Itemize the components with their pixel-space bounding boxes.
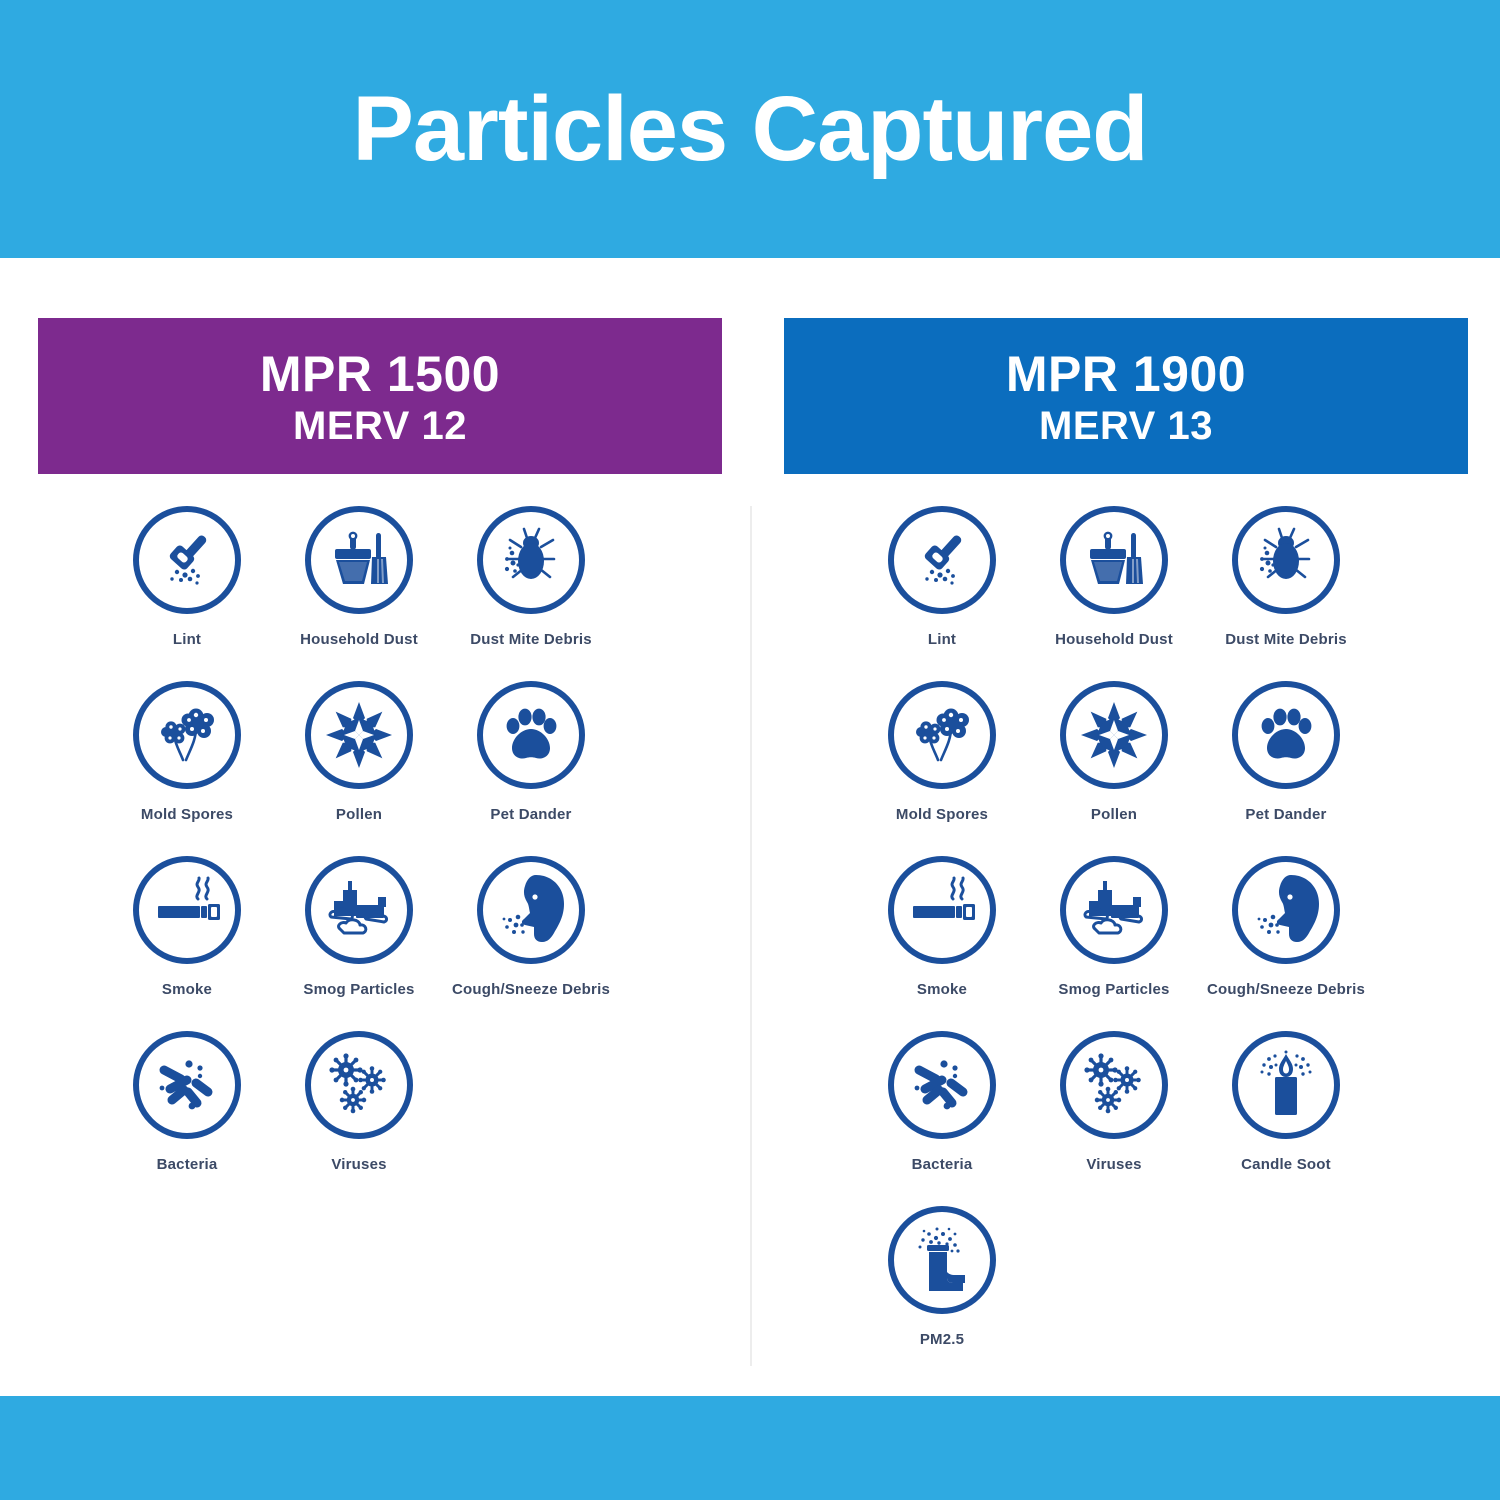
particle-label: Household Dust — [300, 631, 418, 648]
city-smog-icon — [305, 856, 413, 964]
particle-label: Pet Dander — [1245, 806, 1326, 823]
column-merv-label: MERV 12 — [293, 404, 467, 448]
particle-item: Cough/Sneeze Debris — [445, 856, 617, 1031]
paw-print-icon — [477, 681, 585, 789]
particle-item: Household Dust — [1028, 506, 1200, 681]
infographic-page: Particles Captured MPR 1500 MERV 12 MPR … — [0, 0, 1500, 1500]
column-divider — [750, 506, 752, 1366]
paw-print-icon — [1232, 681, 1340, 789]
particle-item: Pet Dander — [445, 681, 617, 856]
particle-label: Bacteria — [912, 1156, 973, 1173]
particle-item: Household Dust — [273, 506, 445, 681]
sneezing-face-icon — [477, 856, 585, 964]
particle-item: Viruses — [1028, 1031, 1200, 1206]
cigarette-smoke-icon — [888, 856, 996, 964]
particle-label: Bacteria — [157, 1156, 218, 1173]
column-rating-label: MPR 1500 — [260, 349, 500, 400]
pollen-starburst-icon — [1060, 681, 1168, 789]
column-merv-label: MERV 13 — [1039, 404, 1213, 448]
pollen-starburst-icon — [305, 681, 413, 789]
particle-label: Smoke — [917, 981, 967, 998]
particle-label: PM2.5 — [920, 1331, 964, 1348]
particle-item: Pollen — [1028, 681, 1200, 856]
particle-label: Cough/Sneeze Debris — [1207, 981, 1365, 998]
particle-label: Lint — [173, 631, 201, 648]
comparison-body: MPR 1500 MERV 12 MPR 1900 MERV 13 Lint — [0, 258, 1500, 1396]
particle-grid-mpr-1500: Lint Household Dust — [101, 506, 617, 1206]
particle-item: Smoke — [856, 856, 1028, 1031]
lint-roller-icon — [888, 506, 996, 614]
city-smog-icon — [1060, 856, 1168, 964]
particle-label: Smoke — [162, 981, 212, 998]
column-header-mpr-1500: MPR 1500 MERV 12 — [38, 318, 722, 474]
particle-label: Smog Particles — [303, 981, 414, 998]
particle-item: Pollen — [273, 681, 445, 856]
column-header-mpr-1900: MPR 1900 MERV 13 — [784, 318, 1468, 474]
particle-item: Dust Mite Debris — [445, 506, 617, 681]
particle-item: Lint — [856, 506, 1028, 681]
particle-item: Bacteria — [101, 1031, 273, 1206]
dustpan-broom-icon — [1060, 506, 1168, 614]
footer-banner — [0, 1396, 1500, 1500]
page-title: Particles Captured — [353, 83, 1148, 175]
particle-item: Viruses — [273, 1031, 445, 1206]
particle-grid-mpr-1900: Lint Household Dust — [856, 506, 1372, 1381]
mold-flowers-icon — [133, 681, 241, 789]
particle-label: Household Dust — [1055, 631, 1173, 648]
particle-item: Mold Spores — [101, 681, 273, 856]
pm25-exhaust-icon — [888, 1206, 996, 1314]
particle-item: Lint — [101, 506, 273, 681]
particle-label: Dust Mite Debris — [1225, 631, 1347, 648]
particle-item: Smog Particles — [1028, 856, 1200, 1031]
particle-label: Candle Soot — [1241, 1156, 1331, 1173]
particle-item: Smoke — [101, 856, 273, 1031]
virus-icon — [305, 1031, 413, 1139]
sneezing-face-icon — [1232, 856, 1340, 964]
particle-item: Dust Mite Debris — [1200, 506, 1372, 681]
particle-item: Cough/Sneeze Debris — [1200, 856, 1372, 1031]
particle-label: Dust Mite Debris — [470, 631, 592, 648]
particle-item: Bacteria — [856, 1031, 1028, 1206]
particle-label: Viruses — [1086, 1156, 1141, 1173]
header-banner: Particles Captured — [0, 0, 1500, 258]
particle-label: Mold Spores — [896, 806, 988, 823]
candle-soot-icon — [1232, 1031, 1340, 1139]
particle-label: Viruses — [331, 1156, 386, 1173]
particle-label: Pollen — [1091, 806, 1137, 823]
particle-item: Pet Dander — [1200, 681, 1372, 856]
cigarette-smoke-icon — [133, 856, 241, 964]
particle-label: Pet Dander — [490, 806, 571, 823]
particle-item: Candle Soot — [1200, 1031, 1372, 1206]
particle-label: Lint — [928, 631, 956, 648]
particle-item: Mold Spores — [856, 681, 1028, 856]
particle-item: Smog Particles — [273, 856, 445, 1031]
particle-item: PM2.5 — [856, 1206, 1028, 1381]
lint-roller-icon — [133, 506, 241, 614]
particle-label: Pollen — [336, 806, 382, 823]
dust-mite-icon — [1232, 506, 1340, 614]
column-rating-label: MPR 1900 — [1006, 349, 1246, 400]
particle-label: Cough/Sneeze Debris — [452, 981, 610, 998]
virus-icon — [1060, 1031, 1168, 1139]
bacteria-icon — [888, 1031, 996, 1139]
bacteria-icon — [133, 1031, 241, 1139]
dustpan-broom-icon — [305, 506, 413, 614]
dust-mite-icon — [477, 506, 585, 614]
particle-label: Mold Spores — [141, 806, 233, 823]
mold-flowers-icon — [888, 681, 996, 789]
particle-label: Smog Particles — [1058, 981, 1169, 998]
